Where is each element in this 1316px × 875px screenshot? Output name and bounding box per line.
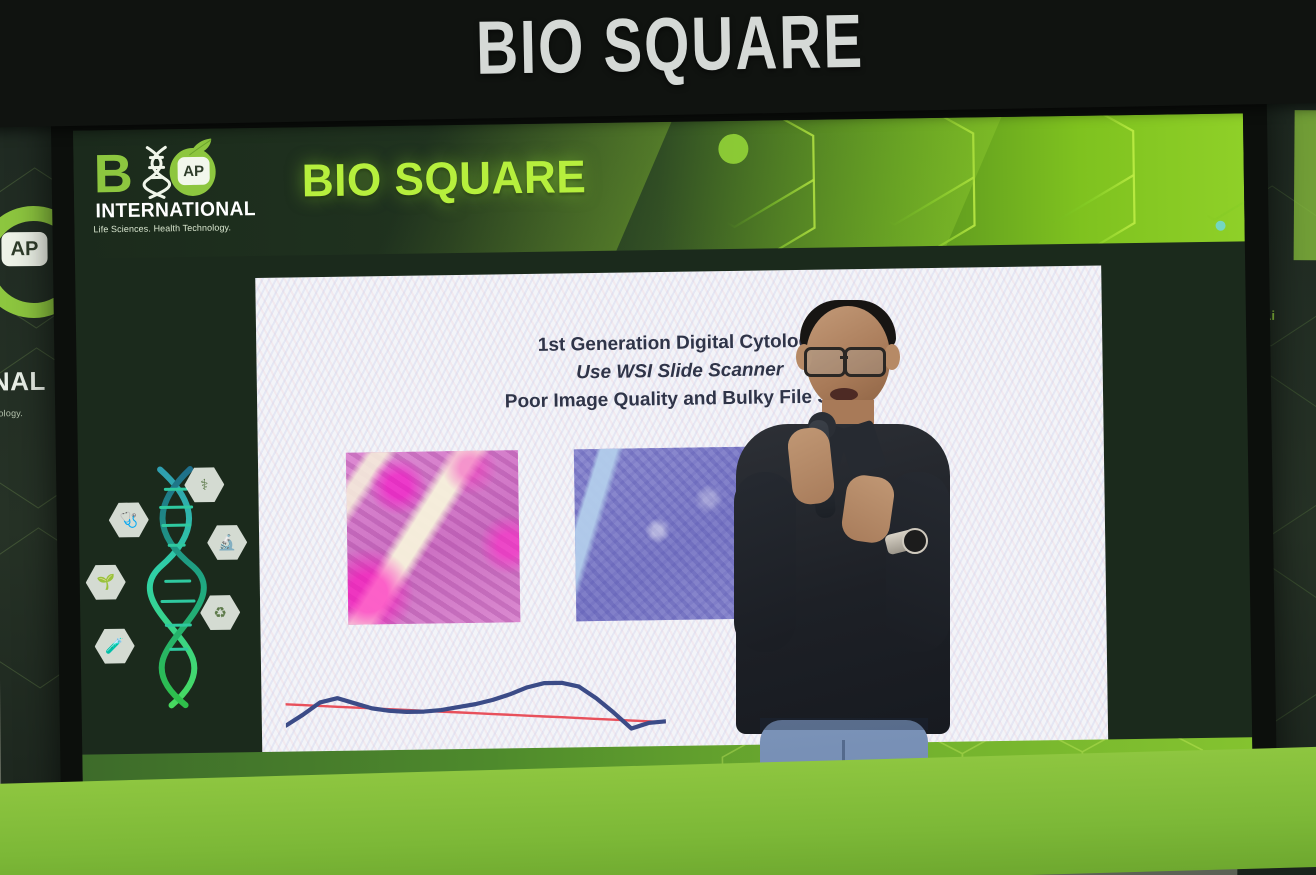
logo-letter-b: B <box>93 148 133 201</box>
dna-helix-icon <box>141 145 172 199</box>
dna-icon: ⚕ <box>200 477 208 492</box>
photo-scene: AP NAL nology. I Li <box>0 0 1316 875</box>
hex-badge-microscope: 🔬 <box>207 524 248 561</box>
wristwatch-face <box>902 528 928 554</box>
histology-image-pink <box>346 450 521 625</box>
hex-badge-plant-flask: 🌱 <box>85 564 126 601</box>
led-display-screen: B AP <box>51 87 1278 835</box>
dna-decoration-group: ⚕ 🩺 🔬 🌱 ♻ 🧪 <box>88 458 262 710</box>
chart-svg <box>285 672 666 758</box>
slide-header-title: BIO SQUARE <box>301 149 586 207</box>
presentation-slide-panel: 1st Generation Digital Cytology Use WSI … <box>255 265 1109 807</box>
presenter-arm-right <box>886 472 950 652</box>
presenter-hand-left <box>786 426 836 506</box>
bio-international-logo: B AP <box>91 146 262 245</box>
venue-banner-title: BIO SQUARE <box>11 0 1316 101</box>
hex-badge-test-tube: 🧪 <box>94 628 135 665</box>
test-tube-icon: 🧪 <box>105 639 124 654</box>
presenter-arm-left <box>734 472 796 652</box>
right-banner-green-bar <box>1294 110 1316 260</box>
leaf-icon <box>187 137 213 157</box>
microscope-icon: 🔬 <box>218 535 237 550</box>
logo-ap-badge: AP <box>177 157 209 185</box>
screen-content-area: B AP <box>73 113 1253 812</box>
slide-text-block: 1st Generation Digital Cytology Use WSI … <box>256 323 1103 420</box>
eyeglasses-lens-right <box>844 347 886 377</box>
plant-flask-icon: 🌱 <box>96 575 115 590</box>
presenter-ear-right <box>884 344 900 370</box>
left-banner-ap-badge: AP <box>1 232 47 266</box>
histology-image-blue <box>574 447 749 622</box>
stethoscope-icon: 🩺 <box>119 512 138 527</box>
logo-organization: INTERNATIONAL <box>95 198 256 223</box>
slide-header: B AP <box>73 113 1245 258</box>
logo-tagline: Life Sciences. Health Technology. <box>93 222 231 234</box>
left-banner-tagline: nology. <box>0 408 23 418</box>
eyeglasses-lens-left <box>804 347 846 377</box>
presenter-belt <box>760 718 928 730</box>
eyeglasses-bridge <box>840 356 848 359</box>
line-chart <box>285 672 666 758</box>
left-banner-word: NAL <box>0 366 46 398</box>
recycle-leaf-icon: ♻ <box>213 605 227 620</box>
